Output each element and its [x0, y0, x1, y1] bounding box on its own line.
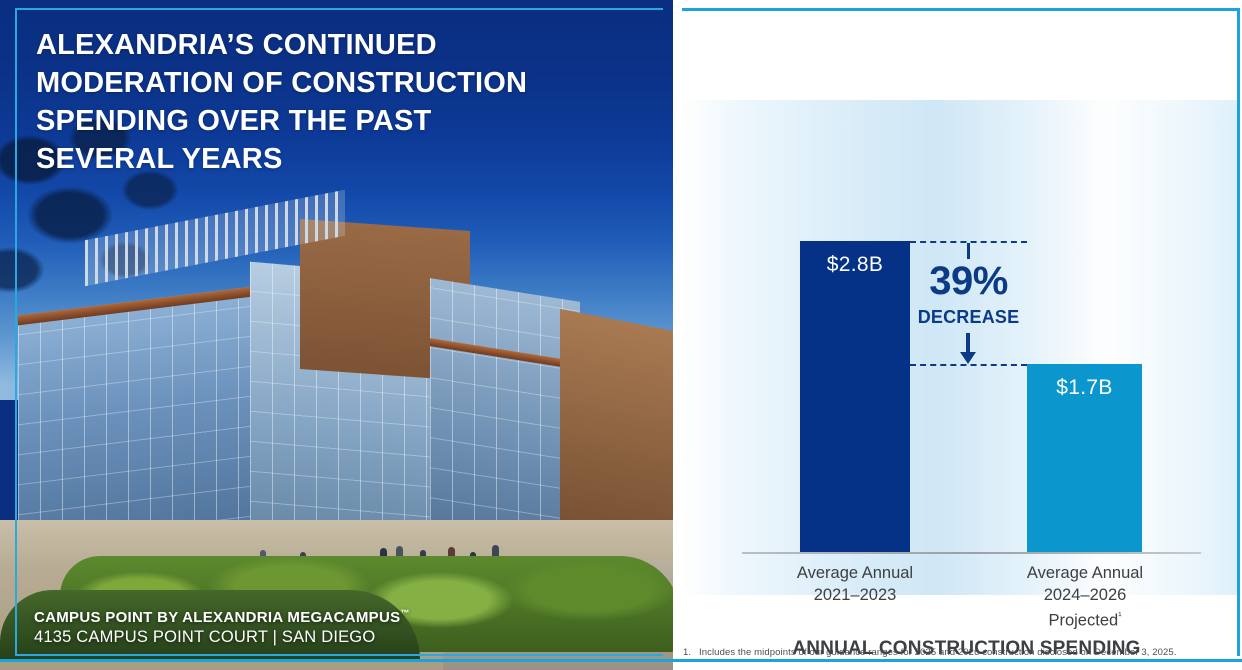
- page-title: ALEXANDRIA’S CONTINUED MODERATION OF CON…: [36, 26, 596, 178]
- headline-line-2: MODERATION OF CONSTRUCTION: [36, 64, 596, 102]
- trademark-symbol: ™: [400, 608, 409, 618]
- category-line: Average Annual: [985, 562, 1185, 584]
- footnote-marker: ¹: [1118, 611, 1121, 622]
- property-name: CAMPUS POINT BY ALEXANDRIA MEGACAMPUS™: [34, 608, 410, 626]
- bar-average-annual-2021-2023: $2.8B: [800, 241, 910, 552]
- bar-value-label: $2.8B: [800, 253, 910, 277]
- category-line: 2024–2026: [985, 584, 1185, 606]
- bar-average-annual-2024-2026: $1.7B: [1027, 364, 1142, 552]
- arrow-down-head-icon: [960, 352, 976, 364]
- chart-background: $2.8B $1.7B 39% DECREASE Average Annual …: [682, 100, 1237, 595]
- category-line: Projected¹: [985, 606, 1185, 632]
- footnote: 1.Includes the midpoints of our guidance…: [683, 647, 1177, 658]
- dashed-guide-bottom: [910, 364, 1027, 366]
- chart-baseline-axis: [742, 552, 1201, 554]
- decrease-percent: 39%: [910, 259, 1027, 304]
- bar-value-label: $1.7B: [1027, 376, 1142, 400]
- footnote-number: 1.: [683, 647, 699, 658]
- decrease-word: DECREASE: [910, 307, 1027, 328]
- bottom-accent-rule: [0, 659, 1242, 662]
- footnote-text: Includes the midpoints of our guidance r…: [699, 647, 1177, 658]
- category-label-2: Average Annual 2024–2026 Projected¹: [985, 562, 1185, 632]
- chart-panel: $2.8B $1.7B 39% DECREASE Average Annual …: [673, 0, 1242, 670]
- slide-root: ALEXANDRIA’S CONTINUED MODERATION OF CON…: [0, 0, 1242, 670]
- image-caption: CAMPUS POINT BY ALEXANDRIA MEGACAMPUS™ 4…: [34, 608, 410, 647]
- annotation-tick-icon: [967, 243, 970, 259]
- headline-line-1: ALEXANDRIA’S CONTINUED: [36, 26, 596, 64]
- hero-image-panel: ALEXANDRIA’S CONTINUED MODERATION OF CON…: [0, 0, 673, 670]
- category-line: Average Annual: [755, 562, 955, 584]
- headline-line-4: SEVERAL YEARS: [36, 140, 596, 178]
- headline-line-3: SPENDING OVER THE PAST: [36, 102, 596, 140]
- property-address: 4135 CAMPUS POINT COURT | SAN DIEGO: [34, 628, 410, 647]
- category-label-1: Average Annual 2021–2023: [755, 562, 955, 606]
- category-line: 2021–2023: [755, 584, 955, 606]
